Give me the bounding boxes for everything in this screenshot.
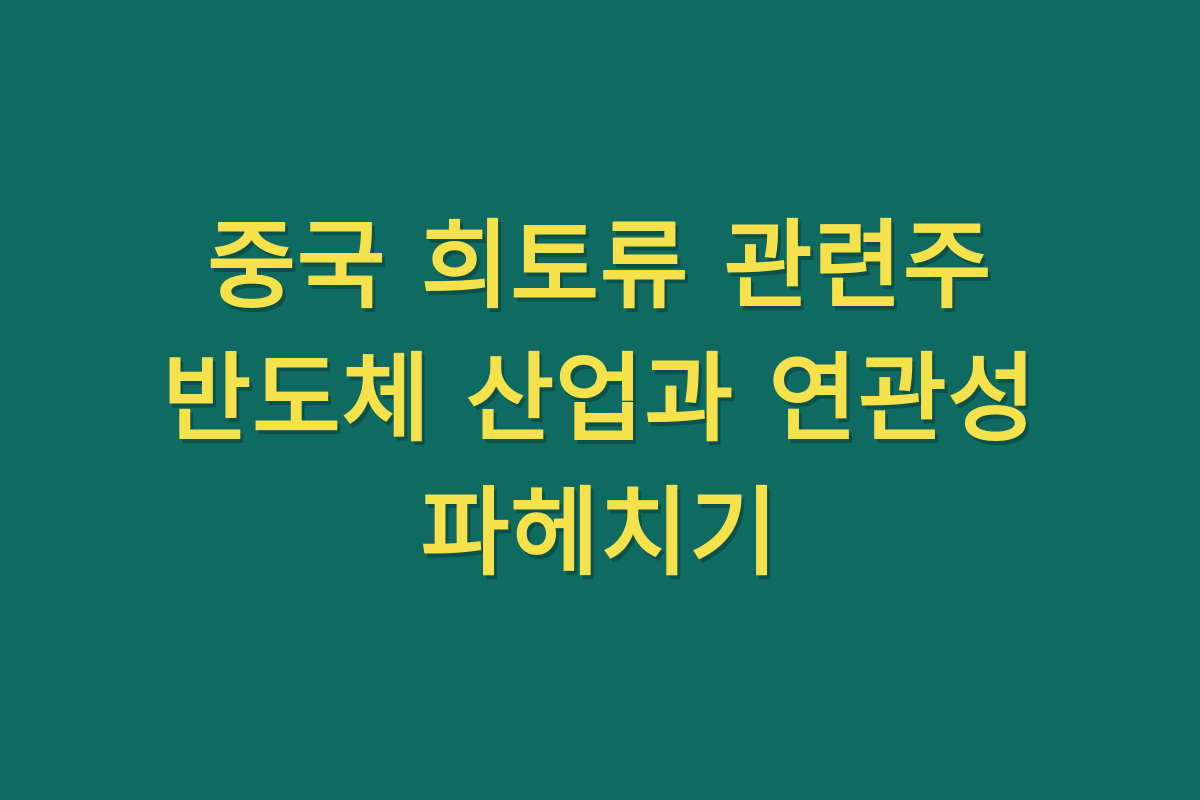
page-title: 중국 희토류 관련주 반도체 산업과 연관성 파헤치기 — [60, 200, 1140, 600]
title-block: 중국 희토류 관련주 반도체 산업과 연관성 파헤치기 — [60, 200, 1140, 600]
thumbnail-card: 중국 희토류 관련주 반도체 산업과 연관성 파헤치기 — [0, 0, 1200, 800]
